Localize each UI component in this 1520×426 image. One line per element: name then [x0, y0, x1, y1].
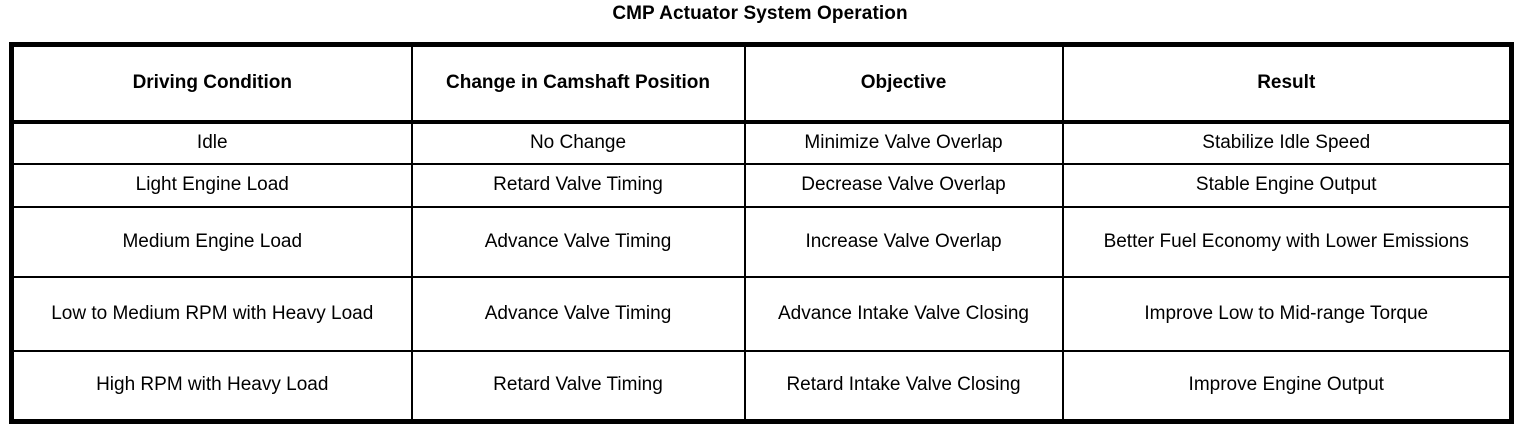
table-row: Light Engine Load Retard Valve Timing De… — [12, 164, 1512, 207]
column-header-objective: Objective — [745, 45, 1063, 122]
table-container: Driving Condition Change in Camshaft Pos… — [9, 42, 1509, 423]
cell-result: Stabilize Idle Speed — [1063, 122, 1512, 164]
table-row: Medium Engine Load Advance Valve Timing … — [12, 207, 1512, 277]
cell-driving-condition: High RPM with Heavy Load — [12, 351, 412, 422]
column-header-result: Result — [1063, 45, 1512, 122]
cell-objective: Minimize Valve Overlap — [745, 122, 1063, 164]
cell-result: Improve Low to Mid-range Torque — [1063, 277, 1512, 351]
cell-result: Stable Engine Output — [1063, 164, 1512, 207]
cell-objective: Decrease Valve Overlap — [745, 164, 1063, 207]
cell-change-in-camshaft-position: No Change — [412, 122, 745, 164]
table-body: Idle No Change Minimize Valve Overlap St… — [12, 122, 1512, 422]
cell-result: Better Fuel Economy with Lower Emissions — [1063, 207, 1512, 277]
cell-objective: Retard Intake Valve Closing — [745, 351, 1063, 422]
cell-result: Improve Engine Output — [1063, 351, 1512, 422]
cell-driving-condition: Medium Engine Load — [12, 207, 412, 277]
cell-change-in-camshaft-position: Advance Valve Timing — [412, 207, 745, 277]
table-header: Driving Condition Change in Camshaft Pos… — [12, 45, 1512, 122]
column-header-change-in-camshaft-position: Change in Camshaft Position — [412, 45, 745, 122]
table-row: High RPM with Heavy Load Retard Valve Ti… — [12, 351, 1512, 422]
cell-objective: Advance Intake Valve Closing — [745, 277, 1063, 351]
cell-objective: Increase Valve Overlap — [745, 207, 1063, 277]
cell-change-in-camshaft-position: Advance Valve Timing — [412, 277, 745, 351]
page-title: CMP Actuator System Operation — [0, 2, 1520, 26]
cell-driving-condition: Idle — [12, 122, 412, 164]
table-header-row: Driving Condition Change in Camshaft Pos… — [12, 45, 1512, 122]
cell-driving-condition: Light Engine Load — [12, 164, 412, 207]
page-root: CMP Actuator System Operation Driving Co… — [0, 0, 1520, 426]
cell-change-in-camshaft-position: Retard Valve Timing — [412, 164, 745, 207]
cell-change-in-camshaft-position: Retard Valve Timing — [412, 351, 745, 422]
cmp-actuator-operation-table: Driving Condition Change in Camshaft Pos… — [9, 42, 1514, 424]
column-header-driving-condition: Driving Condition — [12, 45, 412, 122]
table-row: Low to Medium RPM with Heavy Load Advanc… — [12, 277, 1512, 351]
table-row: Idle No Change Minimize Valve Overlap St… — [12, 122, 1512, 164]
cell-driving-condition: Low to Medium RPM with Heavy Load — [12, 277, 412, 351]
